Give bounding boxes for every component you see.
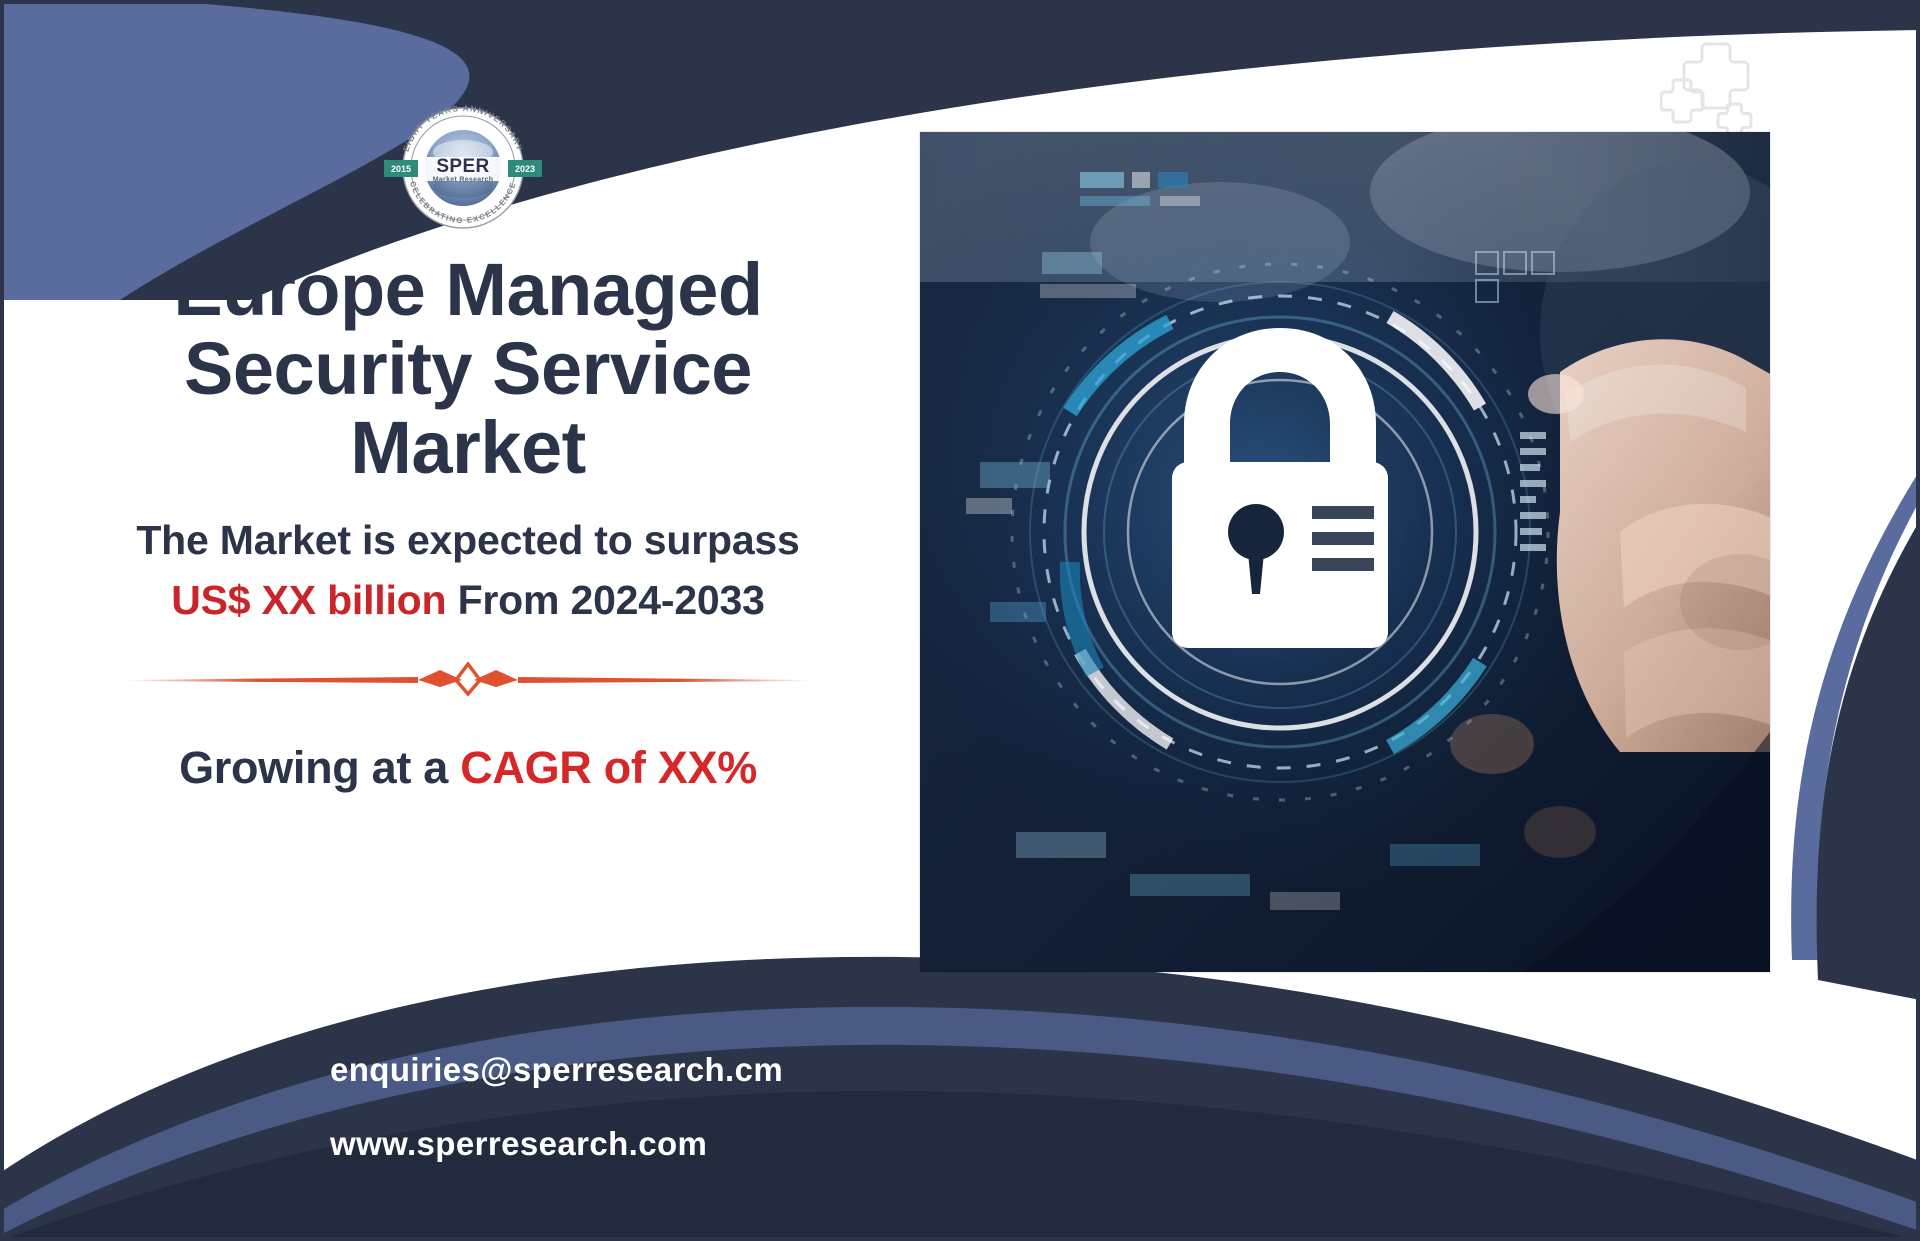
subhead-line-2: US$ XX billion From 2024-2033 bbox=[48, 574, 888, 626]
cagr-statement: Growing at a CAGR of XX% bbox=[48, 742, 888, 794]
cagr-prefix: Growing at a bbox=[179, 742, 460, 793]
title-line-1: Europe Managed bbox=[83, 250, 853, 329]
contact-email[interactable]: enquiries@sperresearch.cm bbox=[330, 1052, 783, 1088]
frame-border-left bbox=[0, 0, 4, 1241]
logo-tagline-text: Market Research bbox=[433, 177, 494, 184]
subhead-line-1: The Market is expected to surpass bbox=[48, 514, 888, 566]
frame-border-bottom bbox=[0, 1237, 1920, 1241]
market-period-text: From 2024-2033 bbox=[458, 577, 765, 623]
frame-border-top bbox=[0, 0, 1920, 4]
logo-year-end-text: 2023 bbox=[515, 164, 535, 174]
hero-image-cybersecurity bbox=[920, 132, 1770, 972]
sper-logo[interactable]: EIGHT YEARS ANNIVERSARY CELEBRATING EXCE… bbox=[382, 100, 544, 230]
page-title: Europe Managed Security Service Market bbox=[83, 250, 853, 488]
headline-block: Europe Managed Security Service Market T… bbox=[48, 250, 888, 794]
ornamental-divider-icon bbox=[48, 662, 888, 696]
logo-year-start-text: 2015 bbox=[391, 164, 411, 174]
frame-border-right bbox=[1916, 0, 1920, 1241]
contact-website[interactable]: www.sperresearch.com bbox=[330, 1126, 783, 1162]
title-line-2: Security Service bbox=[83, 329, 853, 408]
logo-name-text: SPER bbox=[436, 156, 489, 177]
cagr-value: CAGR of XX% bbox=[460, 742, 757, 793]
footer-contact: enquiries@sperresearch.cm www.sperresear… bbox=[330, 1052, 783, 1163]
title-line-3: Market bbox=[83, 408, 853, 487]
plus-decoration-icon bbox=[1660, 38, 1780, 143]
infographic-canvas: EIGHT YEARS ANNIVERSARY CELEBRATING EXCE… bbox=[0, 0, 1920, 1241]
market-value-accent: US$ XX billion bbox=[171, 577, 446, 623]
